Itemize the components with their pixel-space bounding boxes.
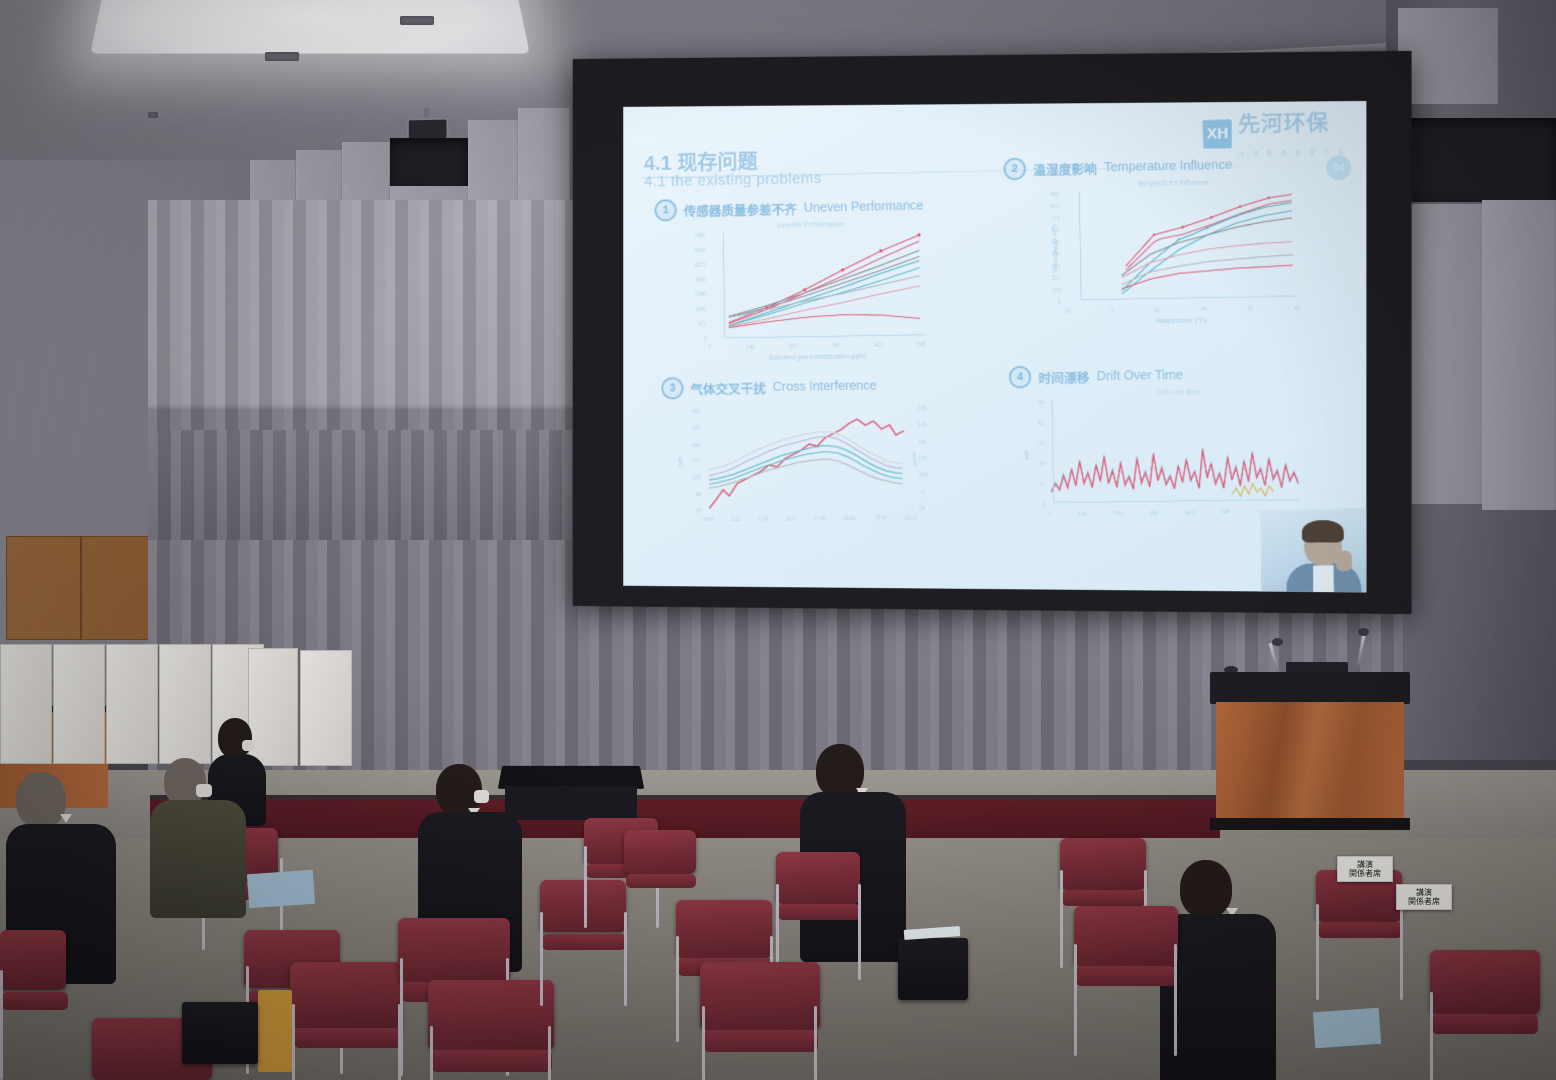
partition-screen: [106, 644, 158, 764]
podium-worktop: [1210, 672, 1410, 704]
wall-panel: [1402, 204, 1482, 504]
quadrant-label-en: Uneven Performance: [804, 198, 924, 214]
sign-line-1: 講演: [1342, 860, 1388, 869]
projection-screen: XH 先河环保 环 境 监 测 智 慧 环 保 4.1 现存问题 4.1 the…: [573, 51, 1412, 614]
quadrant-label-cn: 温湿度影响: [1033, 158, 1097, 179]
face-mask: [196, 784, 212, 797]
handout-paper: [1313, 1008, 1381, 1049]
quadrant-header: 1 传感器质量参差不齐 Uneven Performance: [654, 193, 967, 221]
partition-screen: [53, 644, 105, 764]
partition-screen: [300, 650, 352, 766]
ceiling-vent: [265, 52, 299, 61]
tote-bag: [258, 990, 292, 1072]
quadrant-label-en: Drift Over Time: [1097, 368, 1184, 384]
person-head: [16, 772, 66, 828]
y-axis-ticks: 35003000 25002000 15001000 5000: [691, 233, 707, 343]
plot-uneven-performance: 35003000 25002000 15001000 5000: [707, 229, 926, 342]
plot-temperature-influence: Sensor output (mV) 900800 700600 500400 …: [1061, 187, 1299, 306]
person-body: [150, 800, 246, 918]
y-axis-label: ppb: [678, 457, 684, 466]
plot-cross-interference: ppb μg/m³ 180160 140120 10080 60 200175 …: [702, 406, 918, 514]
lecture-hall-photo: XH 先河环保 环 境 监 测 智 慧 环 保 4.1 现存问题 4.1 the…: [0, 0, 1556, 1080]
screen-surface: XH 先河环保 环 境 监 测 智 慧 环 保 4.1 现存问题 4.1 the…: [623, 101, 1366, 592]
quadrant-cross-interference: 3 气体交叉干扰 Cross Interference ppb μg/m³ 18…: [661, 373, 976, 515]
sign-line-2: 関係者席: [1342, 869, 1388, 878]
person-head: [164, 758, 206, 806]
stage-monitor-body: [505, 786, 637, 820]
presenter-video-overlay: [1259, 508, 1366, 592]
podium[interactable]: [1210, 672, 1410, 824]
wall-recess: [1390, 118, 1556, 202]
x-axis-ticks: 0100 200300 400500: [709, 342, 926, 351]
reserved-seat-sign: 講演 関係者席: [1337, 856, 1393, 882]
quadrant-header: 3 气体交叉干扰 Cross Interference: [661, 373, 974, 400]
sign-line-2: 関係者席: [1401, 897, 1447, 906]
plot-svg: [1061, 187, 1299, 306]
x-axis-label: Standard gas concentration (ppb): [709, 352, 926, 362]
presenter-hair: [1302, 520, 1344, 543]
ceiling-skylight: [90, 0, 530, 54]
presenter-shirt: [1313, 565, 1334, 592]
quadrant-label-en: Cross Interference: [773, 378, 877, 394]
logo-company-name: 先河环保: [1238, 106, 1347, 139]
wall-panel: [1398, 8, 1498, 104]
plot-svg: [1046, 397, 1303, 509]
quadrant-label-cn: 传感器质量参差不齐: [684, 198, 797, 219]
quadrant-number: 2: [1003, 158, 1026, 181]
y-axis-ticks: 180160 140120 10080 60: [686, 409, 702, 514]
logo-mark-icon: XH: [1203, 119, 1232, 148]
partition-screen: [248, 648, 298, 766]
face-mask: [474, 790, 489, 803]
x-axis-ticks: -100 1020 3040: [1063, 305, 1300, 315]
podium-body: [1216, 702, 1404, 820]
quadrant-number: 3: [661, 377, 683, 400]
x-axis-label: Temperature (°C): [1063, 316, 1300, 327]
partition-screen: [0, 644, 52, 764]
face-mask: [242, 740, 255, 751]
plot-svg: [702, 406, 918, 514]
briefcase: [898, 938, 968, 1000]
handout-paper: [247, 870, 315, 909]
quadrant-number: 1: [654, 199, 676, 222]
quadrant-label-cn: 时间漂移: [1038, 366, 1089, 386]
microphone-head-icon: [1358, 628, 1369, 636]
partition-screen: [159, 644, 211, 764]
person-head: [218, 718, 252, 758]
presenter-hand: [1336, 551, 1353, 572]
reserved-seat-sign: 講演 関係者席: [1396, 884, 1452, 910]
quadrant-label-en: Temperature Influence: [1104, 157, 1232, 174]
slide-title-en: 4.1 the existing problems: [644, 170, 822, 191]
y-axis-ticks: 5040 3020 100: [1030, 400, 1046, 508]
quadrant-label-cn: 气体交叉干扰: [690, 377, 766, 397]
podium-base: [1210, 818, 1410, 830]
y-axis-ticks: 900800 700600 500400 300200 1000: [1045, 192, 1061, 307]
quadrant-drift-over-time: 4 时间漂移 Drift Over Time Drift over time p…: [1009, 361, 1351, 509]
quadrant-number: 4: [1009, 366, 1032, 389]
door-seam: [80, 536, 82, 640]
presentation-slide: XH 先河环保 环 境 监 测 智 慧 环 保 4.1 现存问题 4.1 the…: [623, 101, 1366, 592]
wall-recess: [390, 138, 468, 186]
y-axis-label: ppb: [1024, 450, 1030, 459]
ceiling-vent: [148, 112, 158, 118]
person-head: [1180, 860, 1232, 918]
sign-line-1: 講演: [1401, 888, 1447, 897]
y-axis-ticks-right: 200175 150125 10075 50: [918, 406, 934, 512]
wall-panel: [1482, 200, 1556, 510]
plot-svg: [707, 229, 926, 342]
person-head: [816, 744, 864, 798]
plot-drift-over-time: ppb 5040 3020 100: [1046, 397, 1303, 509]
x-axis-ticks: 0:003:00 6:009:00 12:0015:00 18:0021:00: [703, 515, 917, 523]
quadrant-temperature-influence: 2 温湿度影响 Temperature Influence Temperatur…: [1003, 151, 1345, 307]
quadrant-header: 2 温湿度影响 Temperature Influence: [1003, 151, 1343, 180]
quadrant-header: 4 时间漂移 Drift Over Time: [1009, 361, 1349, 388]
ceiling-vent: [400, 16, 434, 25]
microphone-head-icon: [1272, 638, 1283, 646]
quadrant-uneven-performance: 1 传感器质量参差不齐 Uneven Performance Uneven Pe…: [654, 193, 969, 343]
briefcase: [182, 1002, 258, 1064]
